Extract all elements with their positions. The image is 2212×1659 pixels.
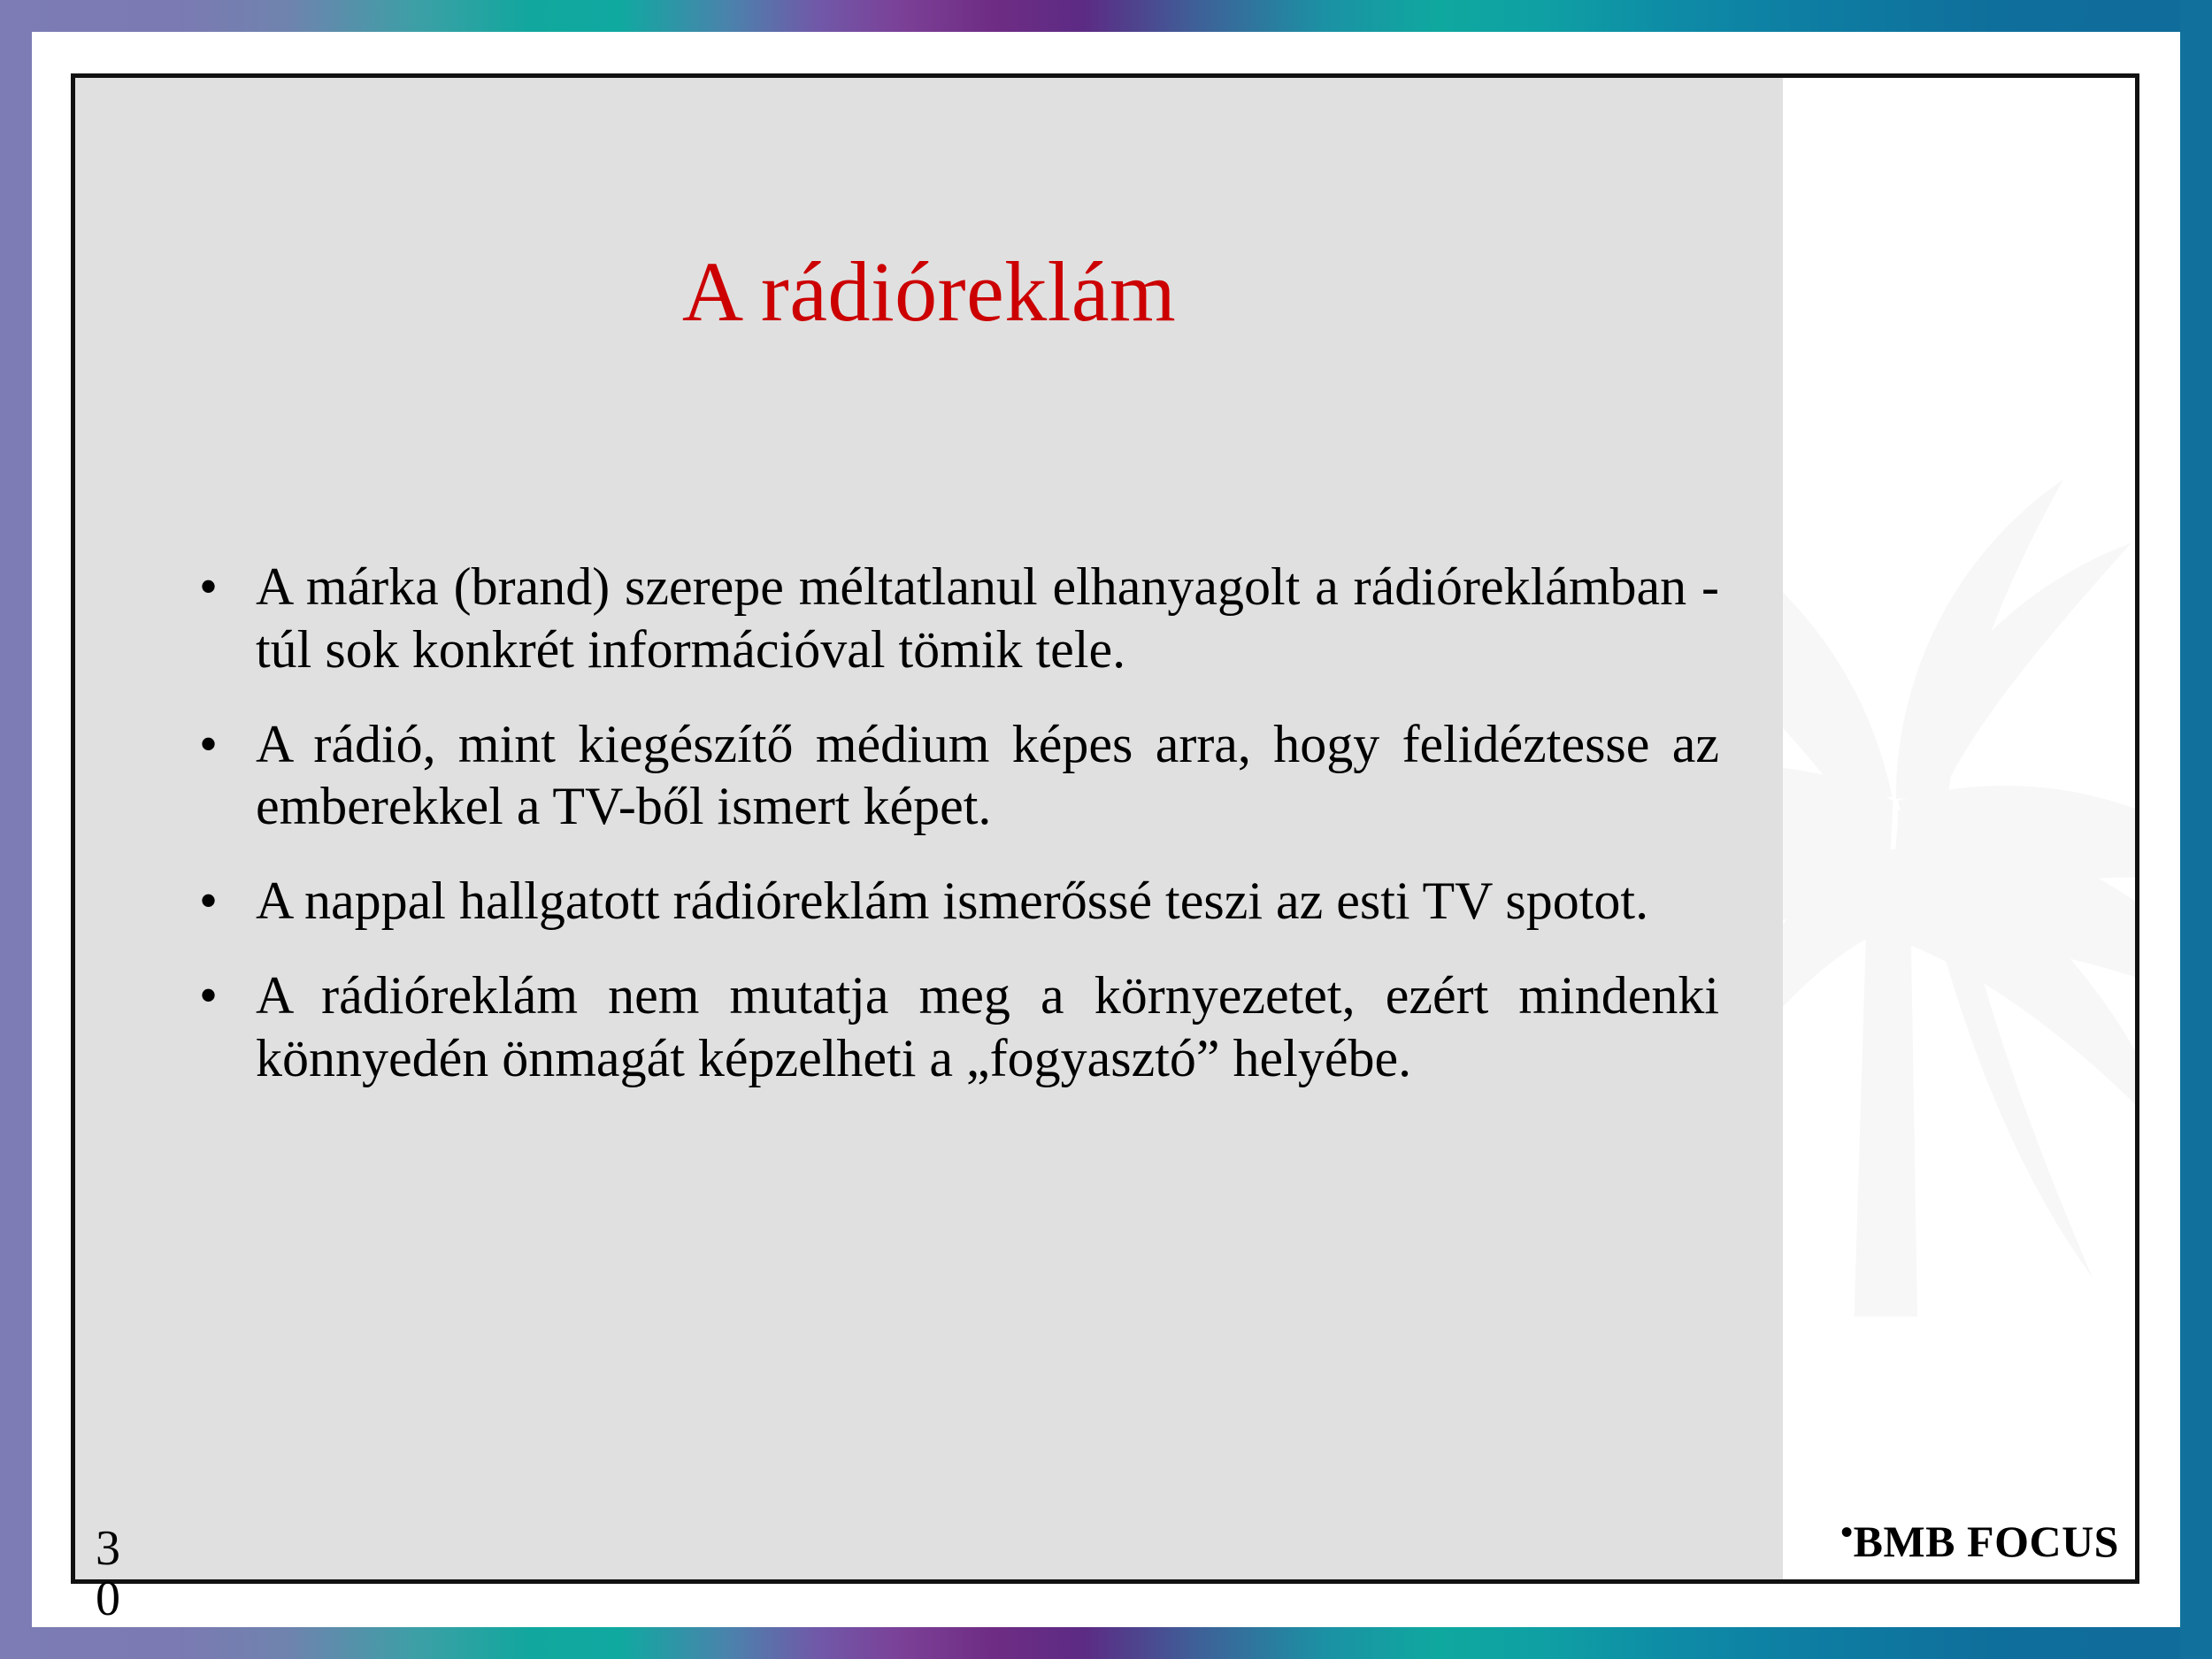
list-item-text: A márka (brand) szerepe méltatlanul elha… xyxy=(256,556,1719,681)
bullet-list: • A márka (brand) szerepe méltatlanul el… xyxy=(180,556,1719,1122)
bullet-icon: • xyxy=(180,713,256,776)
content-panel: A rádióreklám • A márka (brand) szerepe … xyxy=(75,78,1783,1579)
list-item: • A márka (brand) szerepe méltatlanul el… xyxy=(180,556,1719,681)
bullet-icon: • xyxy=(180,964,256,1027)
right-border xyxy=(2180,0,2212,1659)
logo-footer: •BMB FOCUS xyxy=(1840,1511,2119,1567)
side-panel: •BMB FOCUS •BMB FOCUS xyxy=(1783,78,2135,1579)
palm-watermark-icon xyxy=(1783,343,2135,1317)
list-item: • A rádióreklám nem mutatja meg a környe… xyxy=(180,964,1719,1090)
list-item: • A rádió, mint kiegészítő médium képes … xyxy=(180,713,1719,839)
list-item-text: A rádióreklám nem mutatja meg a környeze… xyxy=(256,964,1719,1090)
list-item: • A nappal hallgatott rádióreklám ismerő… xyxy=(180,870,1719,933)
slide: A rádióreklám • A márka (brand) szerepe … xyxy=(0,0,2212,1659)
list-item-text: A nappal hallgatott rádióreklám ismerőss… xyxy=(256,870,1719,933)
left-border xyxy=(0,0,32,1659)
page-number: 30 xyxy=(96,1524,143,1624)
bullet-icon: • xyxy=(180,556,256,618)
top-gradient-border xyxy=(0,0,2212,32)
bottom-gradient-border xyxy=(0,1627,2212,1659)
slide-frame: A rádióreklám • A márka (brand) szerepe … xyxy=(71,73,2139,1584)
logo-footer-text: BMB FOCUS xyxy=(1854,1517,2119,1566)
bullet-icon: • xyxy=(180,870,256,933)
page-title: A rádióreklám xyxy=(75,248,1783,337)
list-item-text: A rádió, mint kiegészítő médium képes ar… xyxy=(256,713,1719,839)
logo-footer-dot-icon: • xyxy=(1840,1512,1854,1552)
